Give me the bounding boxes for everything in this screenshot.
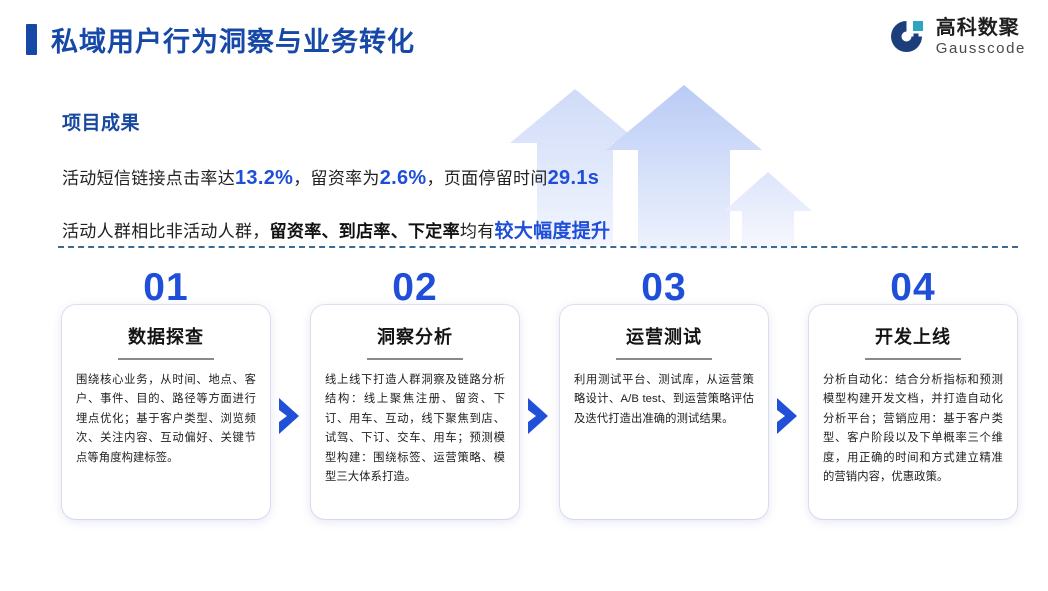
step-number-03: 03 (560, 268, 768, 310)
step-card-04[interactable]: 04 开发上线 分析自动化：结合分析指标和预测模型构建开发文档，并打造自动化分析… (809, 268, 1017, 519)
step-text-04: 分析自动化：结合分析指标和预测模型构建开发文档，并打造自动化分析平台；营销应用：… (823, 371, 1003, 488)
step-card-body-02[interactable]: 洞察分析 线上线下打造人群洞察及链路分析结构：线上聚焦注册、留资、下订、用车、互… (311, 305, 519, 519)
chevron-right-icon-3 (774, 396, 800, 436)
results-line-2-seg-1: 活动人群相比非活动人群， (62, 222, 270, 241)
step-card-02[interactable]: 02 洞察分析 线上线下打造人群洞察及链路分析结构：线上聚焦注册、留资、下订、用… (311, 268, 519, 519)
section-divider (58, 246, 1018, 248)
step-title-01: 数据探查 (76, 323, 256, 349)
results-line-2-highlight: 较大幅度提升 (495, 221, 611, 242)
brand-name-en: Gausscode (936, 41, 1026, 56)
brand-logo-text: 高科数聚 Gausscode (936, 18, 1026, 56)
title-accent-bar (26, 24, 37, 55)
step-card-body-03[interactable]: 运营测试 利用测试平台、测试库，从运营策略设计、A/B test、到运营策略评估… (560, 305, 768, 519)
step-card-body-01[interactable]: 数据探查 围绕核心业务，从时间、地点、客户、事件、目的、路径等方面进行埋点优化；… (62, 305, 270, 519)
step-card-01[interactable]: 01 数据探查 围绕核心业务，从时间、地点、客户、事件、目的、路径等方面进行埋点… (62, 268, 270, 519)
results-line-1-seg-2: ，留资率为 (293, 169, 380, 188)
page-title: 私域用户行为洞察与业务转化 (51, 20, 415, 59)
step-number-04: 04 (809, 268, 1017, 310)
step-title-rule-04 (865, 358, 961, 360)
chevron-right-icon-1 (276, 396, 302, 436)
step-title-04: 开发上线 (823, 323, 1003, 349)
results-line-2-bold: 留资率、到店率、下定率 (270, 222, 460, 241)
results-heading: 项目成果 (62, 108, 610, 135)
page-header: 私域用户行为洞察与业务转化 高科数聚 Gausscode (0, 0, 1048, 78)
results-line-2: 活动人群相比非活动人群，留资率、到店率、下定率均有较大幅度提升 (62, 216, 610, 243)
metric-dwell-time: 29.1s (548, 167, 600, 189)
results-block: 项目成果 活动短信链接点击率达13.2%，留资率为2.6%，页面停留时间29.1… (62, 108, 610, 243)
metric-lead-rate: 2.6% (380, 167, 427, 189)
step-title-rule-02 (367, 358, 463, 360)
brand-name-cn: 高科数聚 (936, 18, 1026, 38)
results-line-1: 活动短信链接点击率达13.2%，留资率为2.6%，页面停留时间29.1s (62, 164, 610, 190)
step-text-01: 围绕核心业务，从时间、地点、客户、事件、目的、路径等方面进行埋点优化；基于客户类… (76, 371, 256, 468)
results-line-2-seg-2: 均有 (460, 222, 495, 241)
step-text-02: 线上线下打造人群洞察及链路分析结构：线上聚焦注册、留资、下订、用车、互动，线下聚… (325, 371, 505, 488)
step-card-03[interactable]: 03 运营测试 利用测试平台、测试库，从运营策略设计、A/B test、到运营策… (560, 268, 768, 519)
title-block: 私域用户行为洞察与业务转化 (26, 20, 415, 59)
step-title-02: 洞察分析 (325, 323, 505, 349)
results-line-1-seg-1: 活动短信链接点击率达 (62, 169, 235, 188)
gausscode-logo-icon (887, 18, 927, 56)
step-title-rule-03 (616, 358, 712, 360)
step-number-02: 02 (311, 268, 519, 310)
step-title-03: 运营测试 (574, 323, 754, 349)
brand-logo: 高科数聚 Gausscode (887, 18, 1026, 56)
results-line-1-seg-3: ，页面停留时间 (427, 169, 548, 188)
step-card-body-04[interactable]: 开发上线 分析自动化：结合分析指标和预测模型构建开发文档，并打造自动化分析平台；… (809, 305, 1017, 519)
step-text-03: 利用测试平台、测试库，从运营策略设计、A/B test、到运营策略评估及迭代打造… (574, 371, 754, 429)
metric-click-rate: 13.2% (235, 167, 293, 189)
process-steps: 01 数据探查 围绕核心业务，从时间、地点、客户、事件、目的、路径等方面进行埋点… (0, 268, 1048, 528)
step-title-rule-01 (118, 358, 214, 360)
arrow-up-icon-center (606, 85, 762, 249)
arrow-up-icon-right (724, 172, 812, 249)
chevron-right-icon-2 (525, 396, 551, 436)
step-number-01: 01 (62, 268, 270, 310)
